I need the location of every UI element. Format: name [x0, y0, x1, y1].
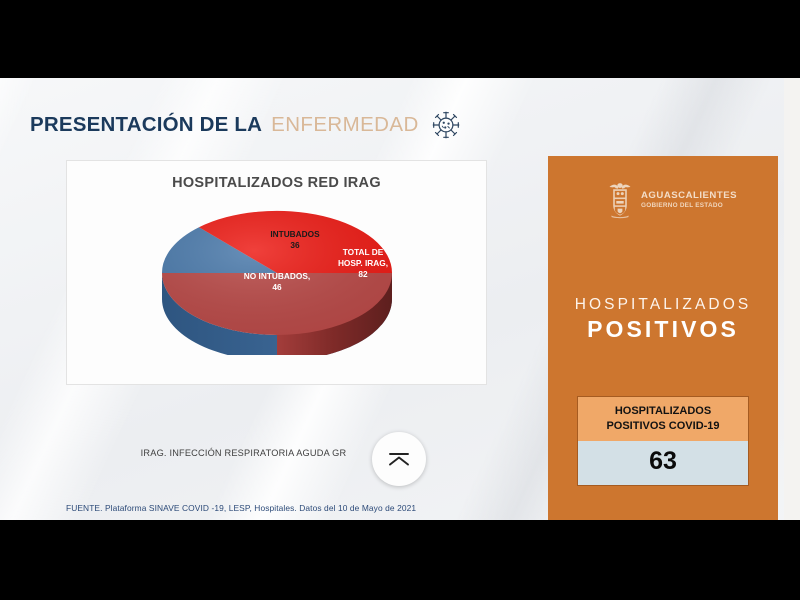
collapse-button[interactable] — [372, 432, 426, 486]
stat-box-value: 63 — [578, 441, 748, 485]
orange-side-panel: AGUASCALIENTES GOBIERNO DEL ESTADO HOSPI… — [548, 156, 778, 520]
stat-box-header-line1: HOSPITALIZADOS — [582, 404, 744, 419]
government-logo-text: AGUASCALIENTES GOBIERNO DEL ESTADO — [641, 191, 737, 209]
stat-box-header: HOSPITALIZADOS POSITIVOS COVID-19 — [578, 397, 748, 441]
stat-box: HOSPITALIZADOS POSITIVOS COVID-19 63 — [577, 396, 749, 486]
government-name: AGUASCALIENTES — [641, 191, 737, 202]
panel-title: HOSPITALIZADOS POSITIVOS — [548, 296, 778, 343]
heading-light-text: ENFERMEDAD — [271, 113, 419, 137]
pie-chart: INTUBADOS 36 NO INTUBADOS, 46 TOTAL DE H… — [67, 191, 486, 363]
government-logo: AGUASCALIENTES GOBIERNO DEL ESTADO — [606, 181, 737, 219]
collapse-up-icon — [386, 448, 412, 470]
coronavirus-icon — [431, 110, 461, 140]
source-note: FUENTE. Plataforma SINAVE COVID -19, LES… — [66, 503, 416, 513]
pie-chart-svg — [137, 195, 417, 355]
aguascalientes-coat-of-arms-icon — [606, 181, 634, 219]
panel-title-line2: POSITIVOS — [548, 316, 778, 343]
stat-box-header-line2: POSITIVOS COVID-19 — [582, 419, 744, 434]
slide-heading: PRESENTACIÓN DE LA ENFERMEDAD — [30, 110, 461, 140]
panel-title-line1: HOSPITALIZADOS — [548, 296, 778, 314]
screenshot-stage: PRESENTACIÓN DE LA ENFERMEDAD — [0, 0, 800, 600]
right-margin-strip — [784, 78, 800, 520]
government-subtitle: GOBIERNO DEL ESTADO — [641, 202, 737, 210]
chart-title: HOSPITALIZADOS RED IRAG — [67, 175, 486, 191]
heading-bold-text: PRESENTACIÓN DE LA — [30, 113, 262, 137]
chart-card: HOSPITALIZADOS RED IRAG — [66, 160, 487, 385]
